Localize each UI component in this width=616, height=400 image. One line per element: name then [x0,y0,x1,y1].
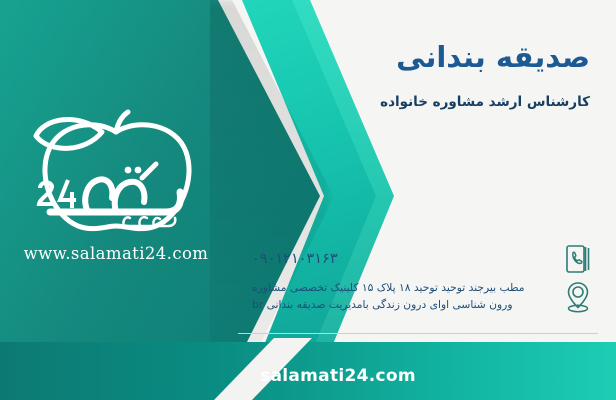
logo-url: www.salamati24.com [16,244,216,263]
contact-row-phone: ۰۹۰۱۲۱۰۳۱۶۳ [248,244,598,274]
phone-book-icon [558,244,598,274]
map-pin-icon [558,280,598,314]
address-line-1: مطب بیرجند توحید توحید ۱۸ پلاک ۱۵ کلینیک… [252,280,558,297]
logo: www.salamati24.com [16,108,216,273]
person-role: کارشناس ارشد مشاوره خانواده [380,94,590,110]
divider [238,333,598,334]
contact-row-address: مطب بیرجند توحید توحید ۱۸ پلاک ۱۵ کلینیک… [248,280,598,314]
contact-block: ۰۹۰۱۲۱۰۳۱۶۳ مطب بیرجند توحید توحید ۱۸ پل… [248,244,598,320]
salamati-logo-mark [16,108,216,243]
footer-url: salamati24.com [0,366,616,386]
phone-number: ۰۹۰۱۲۱۰۳۱۶۳ [248,251,558,267]
address-text: مطب بیرجند توحید توحید ۱۸ پلاک ۱۵ کلینیک… [248,280,558,313]
person-name: صدیقه بندانی [396,40,590,74]
address-line-2: ورون شناسی اوای درون زندگی بامدیریت صدیق… [252,297,558,314]
business-card: www.salamati24.com صدیقه بندانی کارشناس … [0,0,616,400]
